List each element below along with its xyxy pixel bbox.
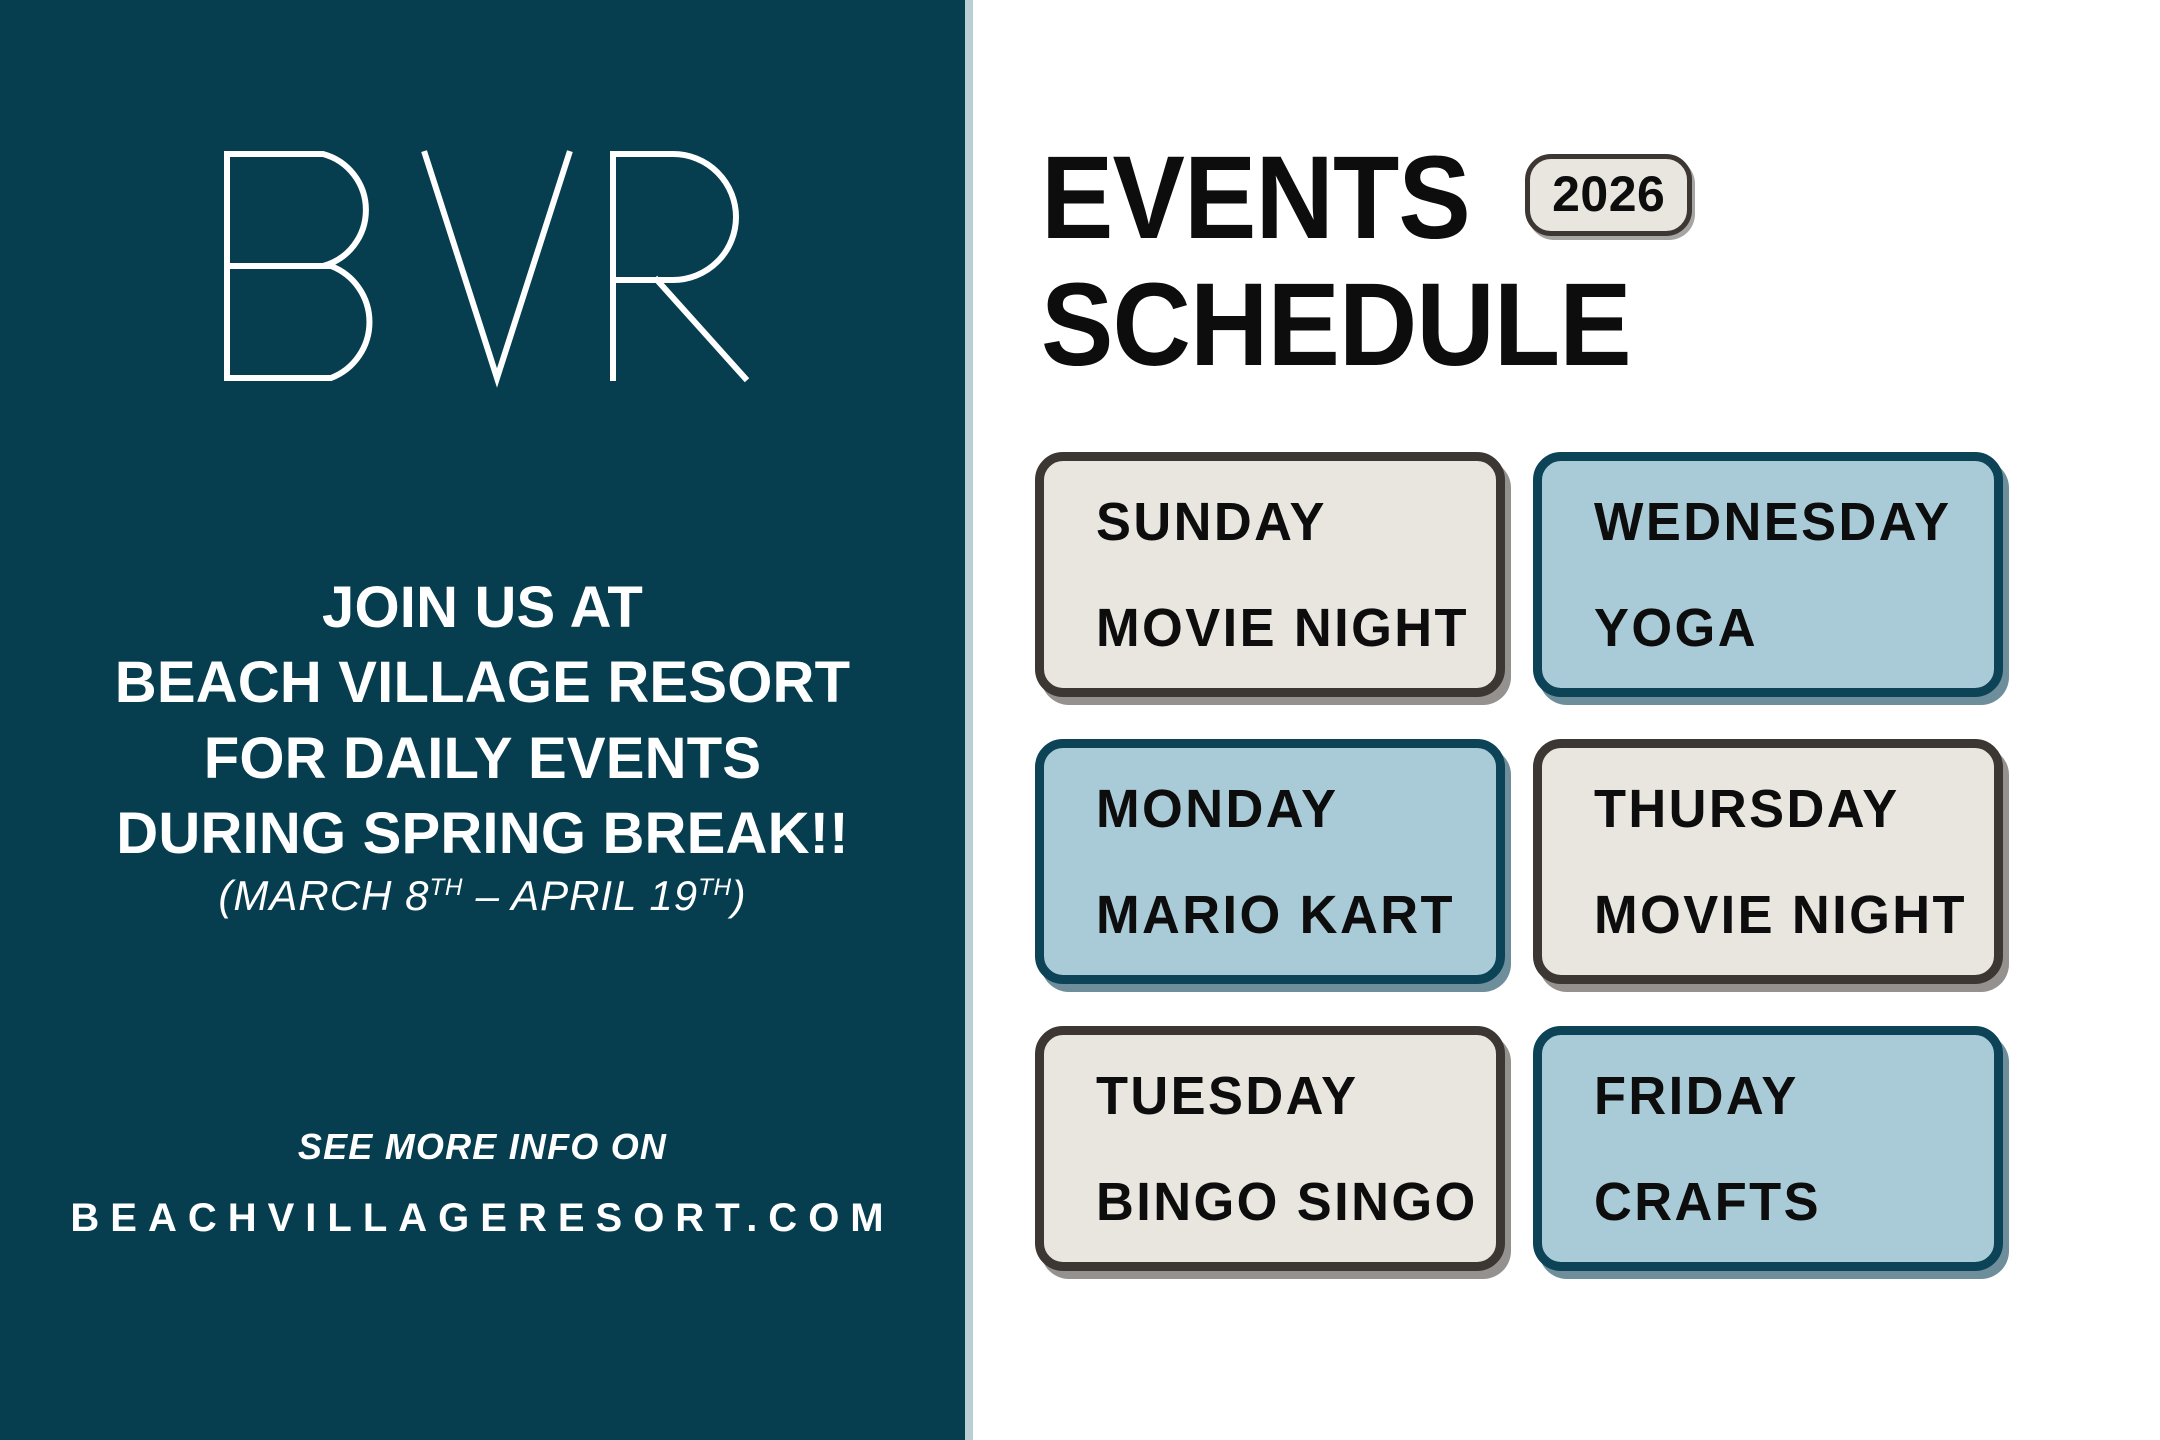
title-word-events: EVENTS	[1041, 148, 1470, 249]
see-more-info-label: SEE MORE INFO ON	[0, 1126, 965, 1168]
card-event-label: MOVIE NIGHT	[1096, 601, 1484, 655]
card-event-label: MOVIE NIGHT	[1594, 888, 1982, 942]
date-close-paren: )	[732, 872, 747, 919]
date-dash: –	[463, 872, 511, 919]
card-day-label: THURSDAY	[1594, 782, 1982, 836]
year-badge: 2026	[1525, 154, 1692, 236]
date-start-ordinal: TH	[429, 874, 462, 901]
card-day-label: MONDAY	[1096, 782, 1484, 836]
card-day-label: TUESDAY	[1096, 1069, 1484, 1123]
headline-line-1: JOIN US AT	[0, 570, 965, 645]
bvr-logo-icon	[213, 140, 753, 390]
event-card-thursday[interactable]: THURSDAY MOVIE NIGHT	[1533, 739, 2003, 984]
event-card-sunday[interactable]: SUNDAY MOVIE NIGHT	[1035, 452, 1505, 697]
events-schedule-poster: JOIN US AT BEACH VILLAGE RESORT FOR DAIL…	[0, 0, 2160, 1440]
event-card-wednesday[interactable]: WEDNESDAY YOGA	[1533, 452, 2003, 697]
event-card-tuesday[interactable]: TUESDAY BINGO SINGO	[1035, 1026, 1505, 1271]
date-start-month: MARCH	[233, 872, 405, 919]
date-open-paren: (	[218, 872, 233, 919]
card-event-label: CRAFTS	[1594, 1175, 1982, 1229]
card-event-label: MARIO KART	[1096, 888, 1484, 942]
date-range-text: (MARCH 8TH – APRIL 19TH)	[0, 872, 965, 920]
date-end-day: 19	[649, 872, 698, 919]
event-card-grid: SUNDAY MOVIE NIGHT WEDNESDAY YOGA MONDAY…	[1035, 452, 2105, 1271]
headline-line-3: FOR DAILY EVENTS	[0, 721, 965, 796]
card-day-label: WEDNESDAY	[1594, 495, 1982, 549]
event-card-monday[interactable]: MONDAY MARIO KART	[1035, 739, 1505, 984]
headline-line-2: BEACH VILLAGE RESORT	[0, 645, 965, 720]
page-title: EVENTS 2026 SCHEDULE	[1041, 148, 2101, 393]
panel-edge-divider	[965, 0, 973, 1440]
headline-line-4: DURING SPRING BREAK!!	[0, 796, 965, 871]
bvr-logo	[0, 140, 965, 394]
website-link[interactable]: BEACHVILLAGERESORT.COM	[0, 1196, 965, 1241]
event-card-friday[interactable]: FRIDAY CRAFTS	[1533, 1026, 2003, 1271]
title-row-1: EVENTS 2026	[1041, 148, 2101, 249]
title-word-schedule: SCHEDULE	[1041, 257, 2016, 393]
date-start-day: 8	[405, 872, 429, 919]
schedule-panel: EVENTS 2026 SCHEDULE SUNDAY MOVIE NIGHT …	[973, 0, 2160, 1440]
card-event-label: BINGO SINGO	[1096, 1175, 1484, 1229]
date-end-ordinal: TH	[698, 874, 731, 901]
headline-text: JOIN US AT BEACH VILLAGE RESORT FOR DAIL…	[0, 570, 965, 872]
card-event-label: YOGA	[1594, 601, 1982, 655]
date-end-month: APRIL	[511, 872, 649, 919]
card-day-label: SUNDAY	[1096, 495, 1484, 549]
card-day-label: FRIDAY	[1594, 1069, 1982, 1123]
